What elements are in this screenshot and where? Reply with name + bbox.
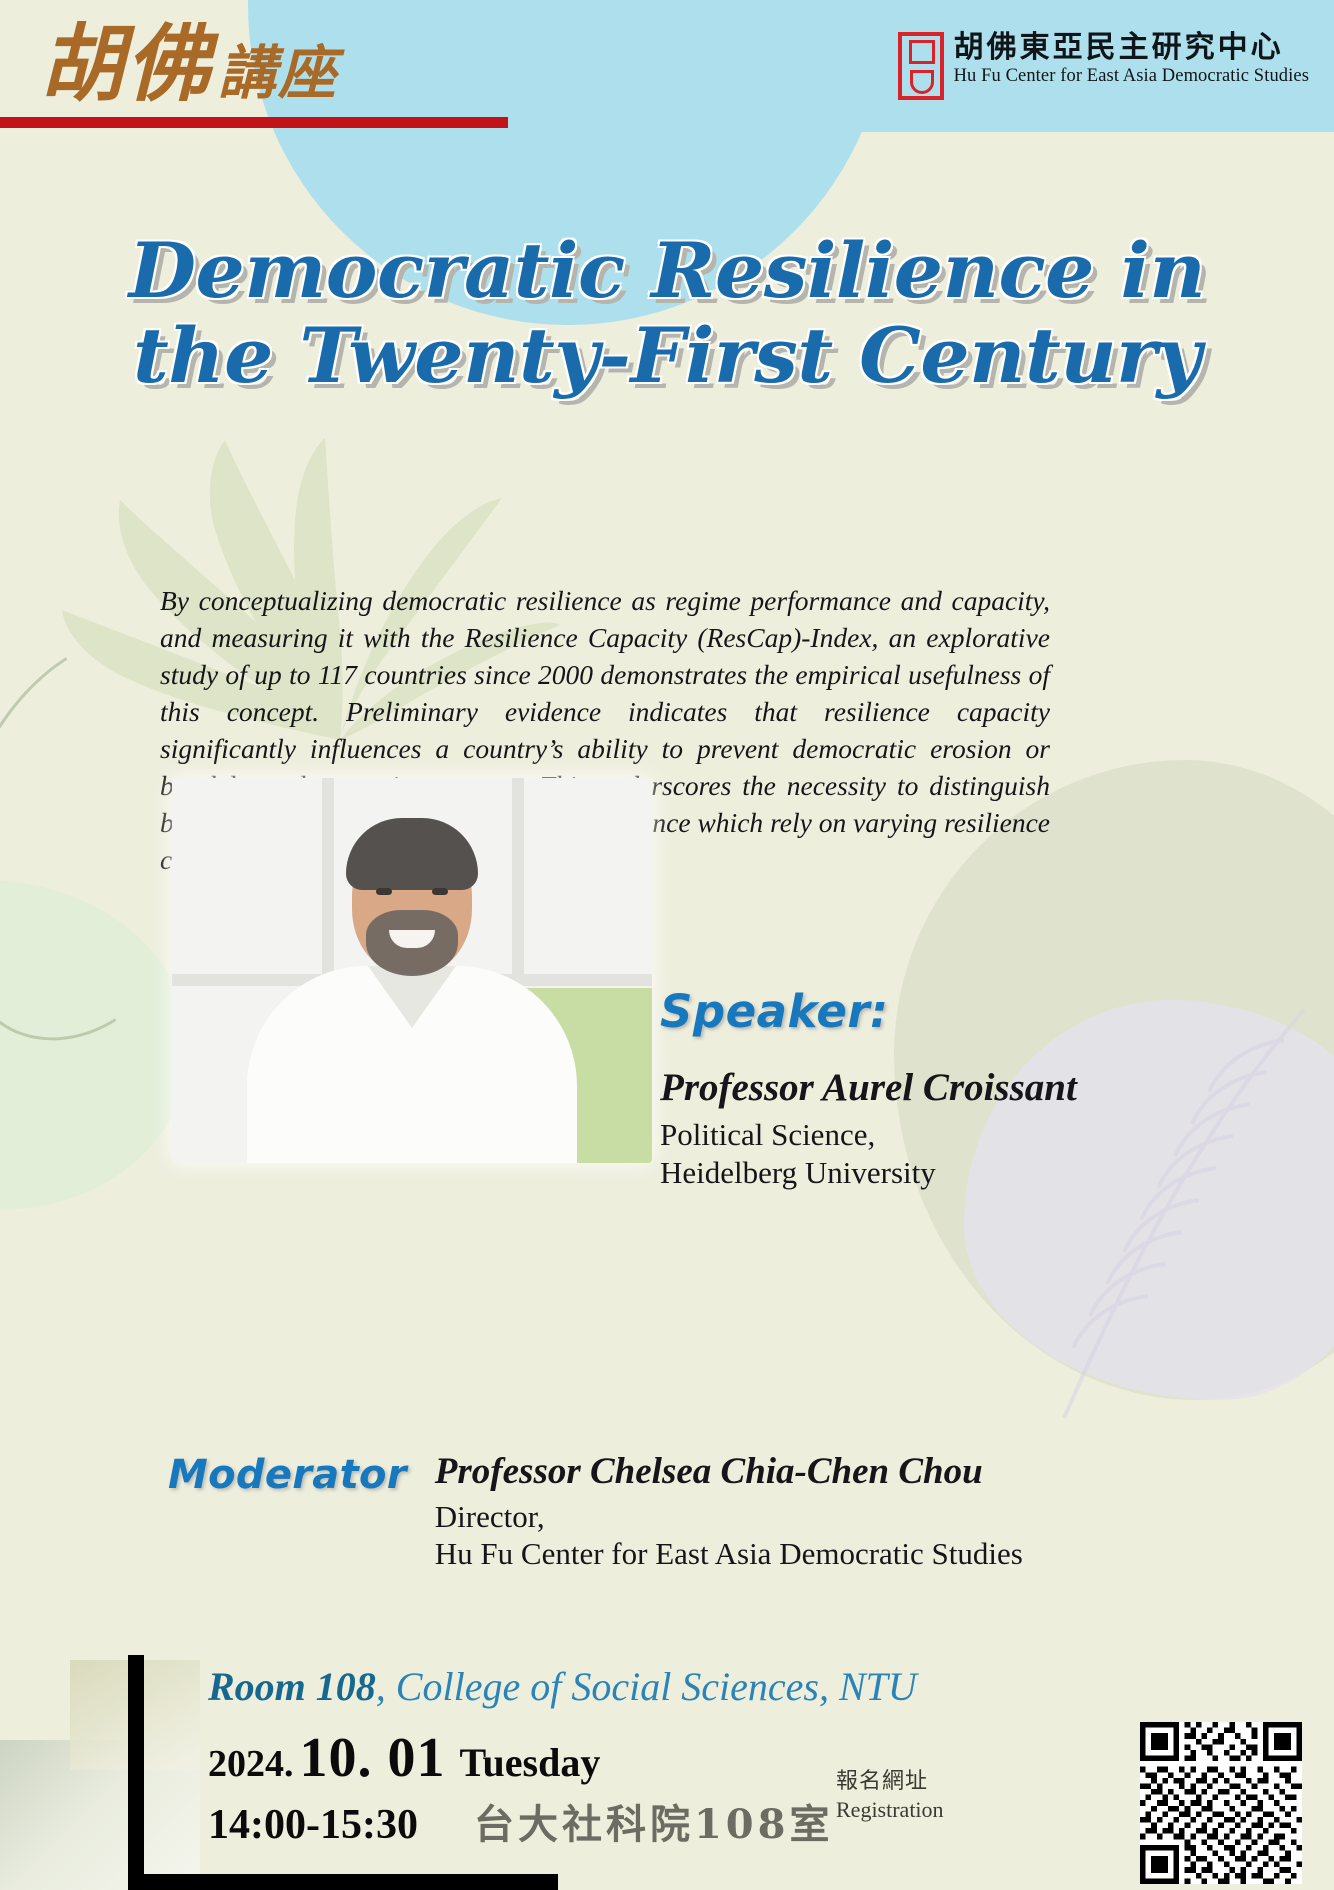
speaker-affiliation-line-2: Heidelberg University xyxy=(660,1154,1300,1192)
venue-cn: 台大社科院108室 xyxy=(474,1792,834,1850)
organization-name-block: 胡佛東亞民主研究中心 Hu Fu Center for East Asia De… xyxy=(954,32,1309,86)
organization-name-en: Hu Fu Center for East Asia Democratic St… xyxy=(954,67,1309,86)
event-date-year: 2024. xyxy=(208,1742,294,1786)
moderator-label: Moderator xyxy=(168,1450,407,1572)
event-time-row: 14:00-15:30 台大社科院108室 xyxy=(208,1792,833,1850)
organization-name-cn: 胡佛東亞民主研究中心 xyxy=(954,32,1309,64)
poster-header: 胡佛講座 胡佛東亞民主研究中心 Hu Fu Center for East As… xyxy=(0,0,1334,150)
registration-caption-cn: 報名網址 xyxy=(836,1768,956,1796)
moderator-info: Moderator Professor Chelsea Chia-Chen Ch… xyxy=(168,1450,1218,1572)
venue-room: Room 108 xyxy=(208,1664,376,1709)
speaker-eye-left xyxy=(376,888,392,895)
registration-caption: 報名網址 Registration xyxy=(836,1768,956,1824)
moderator-affiliation: Director, Hu Fu Center for East Asia Dem… xyxy=(435,1498,1023,1572)
organization-logo: 胡佛東亞民主研究中心 Hu Fu Center for East Asia De… xyxy=(898,32,1309,100)
speaker-photo-image xyxy=(172,778,652,1163)
venue-line: Room 108, College of Social Sciences, NT… xyxy=(208,1663,917,1710)
speaker-info: Speaker: Professor Aurel Croissant Polit… xyxy=(660,985,1300,1192)
event-date-weekday: Tuesday xyxy=(460,1739,601,1786)
poster: 胡佛講座 胡佛東亞民主研究中心 Hu Fu Center for East As… xyxy=(0,0,1334,1890)
venue-building: , College of Social Sciences, NTU xyxy=(376,1664,917,1709)
series-brush-title: 胡佛講座 xyxy=(40,22,338,106)
green-blob-left xyxy=(0,880,190,1210)
page-title: Democratic Resilience in the Twenty-Firs… xyxy=(0,228,1334,398)
moderator-details: Professor Chelsea Chia-Chen Chou Directo… xyxy=(435,1450,1023,1572)
page-title-line-2: the Twenty-First Century xyxy=(0,313,1334,398)
moderator-affiliation-line-2: Hu Fu Center for East Asia Democratic St… xyxy=(435,1535,1023,1572)
series-brush-title-main: 胡佛 xyxy=(40,14,212,113)
series-brush-title-sub: 講座 xyxy=(218,39,338,107)
moderator-affiliation-line-1: Director, xyxy=(435,1498,1023,1535)
speaker-affiliation-line-1: Political Science, xyxy=(660,1116,1300,1154)
event-date: 2024. 10. 01 Tuesday xyxy=(208,1726,600,1790)
red-divider-rule xyxy=(0,117,508,128)
moderator-name: Professor Chelsea Chia-Chen Chou xyxy=(435,1450,1023,1493)
speaker-eye-right xyxy=(432,888,448,895)
registration-caption-en: Registration xyxy=(836,1796,956,1824)
qr-code-icon[interactable] xyxy=(1140,1722,1302,1884)
page-title-line-1: Democratic Resilience in xyxy=(0,228,1334,313)
black-vertical-bar xyxy=(128,1655,144,1890)
red-seal-icon xyxy=(898,32,944,100)
speaker-label: Speaker: xyxy=(660,985,1300,1038)
speaker-affiliation: Political Science, Heidelberg University xyxy=(660,1116,1300,1192)
black-horizontal-bar xyxy=(128,1874,558,1890)
gradient-square-lower xyxy=(0,1740,200,1890)
speaker-name: Professor Aurel Croissant xyxy=(660,1065,1300,1110)
event-date-monthday: 10. 01 xyxy=(300,1726,446,1790)
event-time: 14:00-15:30 xyxy=(208,1801,418,1849)
speaker-photo xyxy=(172,778,652,1163)
